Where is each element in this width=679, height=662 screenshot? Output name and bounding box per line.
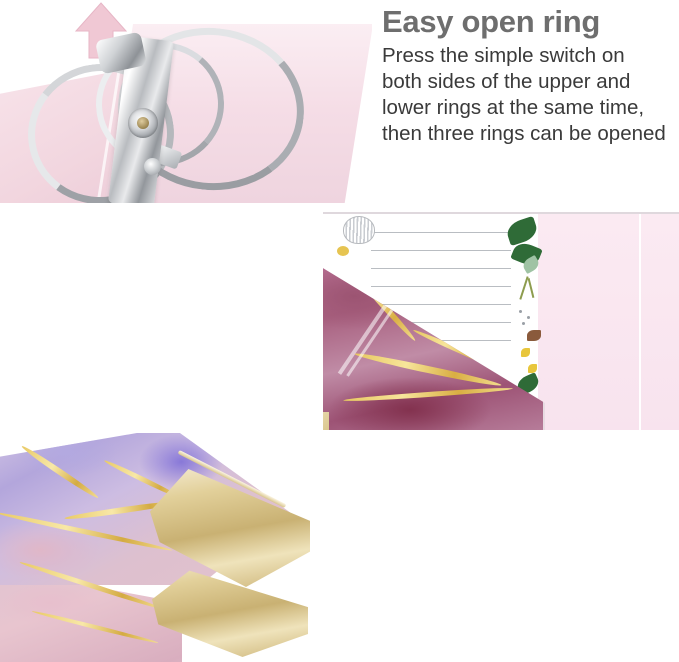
note-rule [371, 250, 511, 251]
note-rule [371, 268, 511, 269]
feature-text-easy-open-ring: Easy open ring Press the simple switch o… [382, 4, 670, 147]
note-rule [371, 286, 511, 287]
flower-icon [521, 348, 530, 357]
speck-dot [527, 316, 530, 319]
binder-panel-fold-line [639, 214, 641, 430]
pocket-corner-guard [323, 412, 329, 430]
feature-body: Press the simple switch on both sides of… [382, 43, 670, 147]
shell-illustration [343, 216, 375, 244]
product-feature-page: Easy open ring Press the simple switch o… [0, 0, 679, 662]
built-in-pocket-photo [323, 206, 679, 430]
binder-pink-panel-right [641, 212, 679, 430]
feature-heading: Easy open ring [382, 4, 670, 40]
corner-guard-photo [0, 433, 370, 662]
feature-panel-premium-corner-guards: Premium Corner Guards Not only beautiful… [0, 433, 679, 662]
speck-dot [522, 322, 525, 325]
gold-vein [343, 386, 513, 403]
ring-mechanism-photo [0, 0, 372, 203]
binder-pink-panel-middle [538, 212, 641, 430]
feature-panel-easy-open-ring: Easy open ring Press the simple switch o… [0, 0, 679, 203]
speck-dot [519, 310, 522, 313]
note-rule [371, 232, 511, 233]
seed-pod [527, 330, 541, 341]
yellow-accent-dot [337, 246, 349, 256]
flower-icon [528, 364, 537, 373]
note-rule [371, 304, 511, 305]
sprig-icon [528, 278, 535, 298]
ring-screw-lower [144, 158, 161, 175]
feature-panel-built-in-pockets: Built in pockets to store loose document [0, 206, 679, 430]
ring-rivet-center [128, 108, 158, 138]
